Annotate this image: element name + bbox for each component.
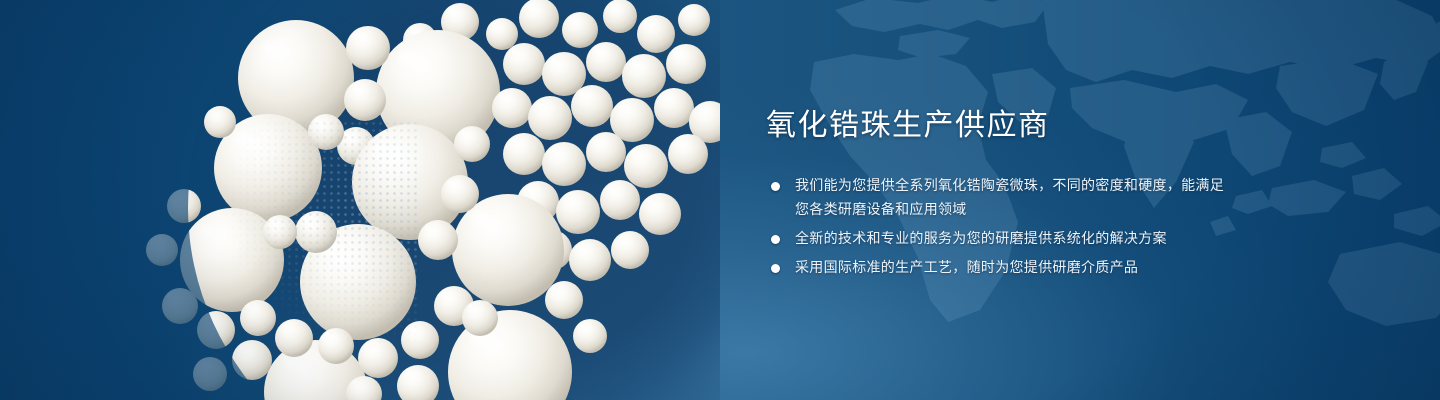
list-item-label: 我们能为您提供全系列氧化锆陶瓷微珠，不同的密度和硬度，能满足您各类研磨设备和应用… [795,174,1236,222]
list-item-label: 采用国际标准的生产工艺，随时为您提供研磨介质产品 [795,256,1236,280]
page-title: 氧化锆珠生产供应商 [766,106,1236,146]
list-item-label: 全新的技术和专业的服务为您的研磨提供系统化的解决方案 [795,227,1236,251]
list-item: 采用国际标准的生产工艺，随时为您提供研磨介质产品 [770,256,1236,280]
bullet-dot-icon [771,264,780,273]
hero-banner: 氧化锆珠生产供应商 我们能为您提供全系列氧化锆陶瓷微珠，不同的密度和硬度，能满足… [0,0,1440,400]
bullet-dot-icon [771,235,780,244]
bullet-dot-icon [771,182,780,191]
list-item: 我们能为您提供全系列氧化锆陶瓷微珠，不同的密度和硬度，能满足您各类研磨设备和应用… [770,174,1236,222]
banner-copy: 氧化锆珠生产供应商 我们能为您提供全系列氧化锆陶瓷微珠，不同的密度和硬度，能满足… [766,106,1236,280]
list-item: 全新的技术和专业的服务为您的研磨提供系统化的解决方案 [770,227,1236,251]
feature-list: 我们能为您提供全系列氧化锆陶瓷微珠，不同的密度和硬度，能满足您各类研磨设备和应用… [770,174,1236,280]
